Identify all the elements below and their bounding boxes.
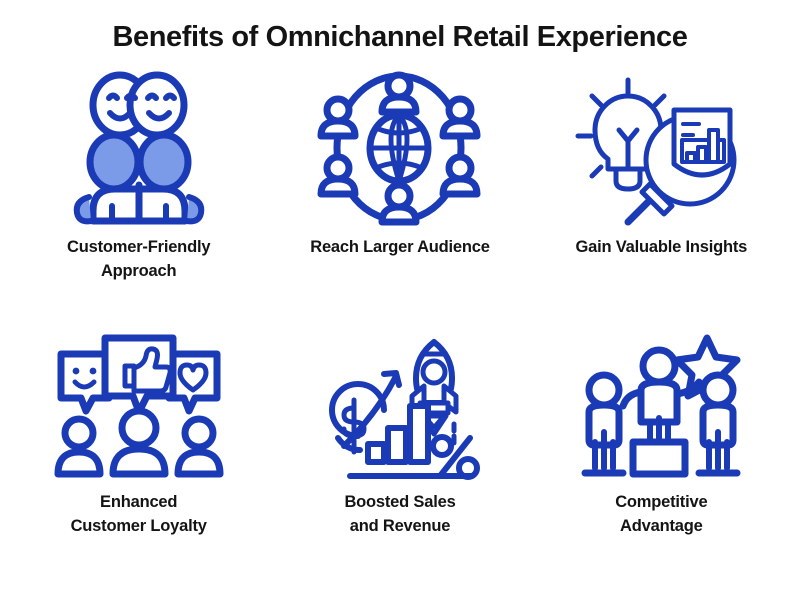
benefit-card-reach-larger-audience: Reach Larger Audience: [269, 64, 530, 325]
benefit-caption: Enhanced Customer Loyalty: [71, 491, 207, 539]
globe-people-network-icon: [312, 64, 487, 232]
benefit-card-boosted-sales-and-revenue: Boosted Sales and Revenue: [269, 325, 530, 586]
rocket-growth-chart-icon: [310, 325, 490, 487]
benefit-caption: Customer-Friendly Approach: [67, 236, 210, 284]
benefit-card-competitive-advantage: Competitive Advantage: [531, 325, 792, 586]
benefit-caption: Boosted Sales and Revenue: [344, 491, 455, 539]
two-people-smiley-faces-icon: [49, 64, 229, 232]
podium-winner-star-icon: [571, 325, 751, 487]
benefit-card-customer-friendly-approach: Customer-Friendly Approach: [8, 64, 269, 325]
benefit-card-gain-valuable-insights: Gain Valuable Insights: [531, 64, 792, 325]
infographic-root: Benefits of Omnichannel Retail Experienc…: [0, 0, 800, 600]
benefit-card-enhanced-customer-loyalty: Enhanced Customer Loyalty: [8, 325, 269, 586]
benefit-caption: Gain Valuable Insights: [576, 236, 748, 260]
benefits-grid: Customer-Friendly Approach: [0, 54, 800, 600]
benefit-caption: Competitive Advantage: [615, 491, 707, 539]
page-title: Benefits of Omnichannel Retail Experienc…: [0, 0, 800, 54]
speech-bubbles-people-icon: [49, 325, 229, 487]
benefit-caption: Reach Larger Audience: [310, 236, 490, 260]
lightbulb-magnifier-chart-icon: [566, 64, 756, 232]
